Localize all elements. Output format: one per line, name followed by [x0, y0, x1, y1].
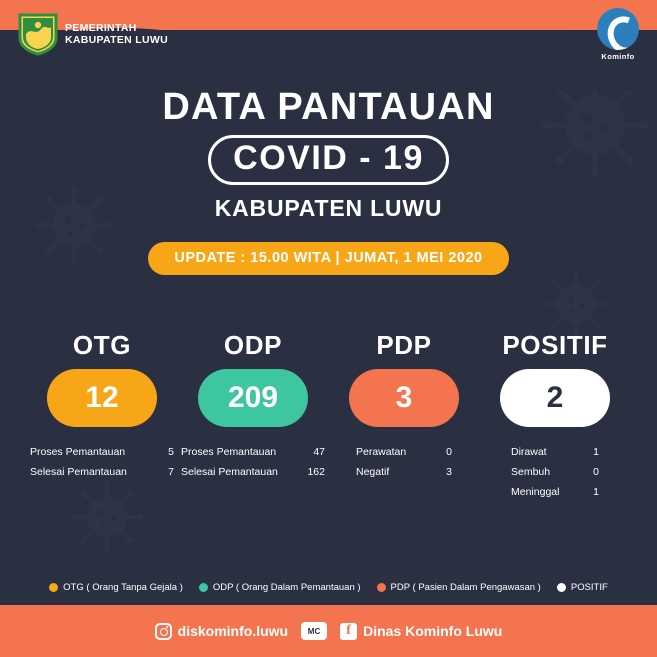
stat-value-pdp: 3: [349, 369, 459, 427]
legend-dot-icon: [49, 583, 58, 592]
breakdown-value: 162: [301, 463, 325, 483]
breakdown-label: Selesai Pemantauan: [181, 463, 278, 483]
breakdown-row: Proses Pemantauan 47: [181, 443, 325, 463]
breakdown-value: 5: [162, 443, 174, 463]
legend-label: OTG ( Orang Tanpa Gejala ): [63, 582, 183, 593]
stat-breakdown-otg: Proses Pemantauan 5 Selesai Pemantauan 7: [28, 443, 176, 483]
page-subtitle: KABUPATEN LUWU: [0, 195, 657, 222]
covid-title-badge: COVID - 19: [208, 135, 449, 185]
gov-line-2: KABUPATEN LUWU: [65, 34, 168, 46]
legend-dot-icon: [377, 583, 386, 592]
breakdown-value: 3: [440, 463, 452, 483]
page-title: DATA PANTAUAN: [0, 88, 657, 126]
stat-card-otg: OTG 12 Proses Pemantauan 5 Selesai Peman…: [28, 330, 176, 483]
stat-label-positif: POSITIF: [481, 330, 629, 361]
breakdown-value: 0: [440, 443, 452, 463]
legend-dot-icon: [557, 583, 566, 592]
legend-item-pdp: PDP ( Pasien Dalam Pengawasan ): [377, 582, 541, 593]
breakdown-label: Meninggal: [511, 483, 559, 503]
breakdown-label: Perawatan: [356, 443, 406, 463]
breakdown-value: 1: [587, 443, 599, 463]
facebook-page-group[interactable]: f Dinas Kominfo Luwu: [340, 623, 502, 640]
kominfo-label: Kominfo: [597, 52, 639, 61]
legend-item-odp: ODP ( Orang Dalam Pemantauan ): [199, 582, 361, 593]
legend-label: ODP ( Orang Dalam Pemantauan ): [213, 582, 361, 593]
government-logo: PEMERINTAH KABUPATEN LUWU: [18, 12, 168, 56]
facebook-name: Dinas Kominfo Luwu: [363, 623, 502, 639]
breakdown-row: Dirawat 1: [511, 443, 599, 463]
breakdown-label: Proses Pemantauan: [181, 443, 276, 463]
stat-breakdown-positif: Dirawat 1 Sembuh 0 Meninggal 1: [509, 443, 601, 503]
stat-label-odp: ODP: [179, 330, 327, 361]
stat-value-odp: 209: [198, 369, 308, 427]
legend-label: POSITIF: [571, 582, 608, 593]
stat-breakdown-pdp: Perawatan 0 Negatif 3: [354, 443, 454, 483]
legend-item-positif: POSITIF: [557, 582, 608, 593]
breakdown-label: Dirawat: [511, 443, 547, 463]
legend-item-otg: OTG ( Orang Tanpa Gejala ): [49, 582, 183, 593]
update-timestamp-badge: UPDATE : 15.00 WITA | JUMAT, 1 MEI 2020: [148, 242, 508, 275]
breakdown-value: 47: [307, 443, 325, 463]
government-name: PEMERINTAH KABUPATEN LUWU: [65, 22, 168, 46]
gov-line-1: PEMERINTAH: [65, 22, 168, 34]
stat-card-pdp: PDP 3 Perawatan 0 Negatif 3: [330, 330, 478, 483]
instagram-icon: [155, 623, 172, 640]
breakdown-value: 0: [587, 463, 599, 483]
stat-card-positif: POSITIF 2 Dirawat 1 Sembuh 0 Meninggal 1: [481, 330, 629, 503]
breakdown-label: Proses Pemantauan: [30, 443, 125, 463]
stat-value-positif: 2: [500, 369, 610, 427]
instagram-handle: diskominfo.luwu: [178, 623, 288, 639]
legend: OTG ( Orang Tanpa Gejala ) ODP ( Orang D…: [0, 582, 657, 593]
stat-label-pdp: PDP: [330, 330, 478, 361]
stat-breakdown-odp: Proses Pemantauan 47 Selesai Pemantauan …: [179, 443, 327, 483]
breakdown-row: Meninggal 1: [511, 483, 599, 503]
legend-label: PDP ( Pasien Dalam Pengawasan ): [391, 582, 541, 593]
breakdown-row: Selesai Pemantauan 7: [30, 463, 174, 483]
breakdown-label: Negatif: [356, 463, 389, 483]
legend-dot-icon: [199, 583, 208, 592]
shield-crest-icon: [18, 12, 58, 56]
stats-row: OTG 12 Proses Pemantauan 5 Selesai Peman…: [28, 330, 629, 503]
stat-label-otg: OTG: [28, 330, 176, 361]
breakdown-value: 7: [162, 463, 174, 483]
breakdown-row: Perawatan 0: [356, 443, 452, 463]
footer-social: diskominfo.luwu MC f Dinas Kominfo Luwu: [0, 605, 657, 657]
breakdown-label: Sembuh: [511, 463, 550, 483]
media-center-badge-icon: MC: [301, 622, 327, 640]
breakdown-value: 1: [587, 483, 599, 503]
kominfo-logo-icon: [597, 8, 639, 50]
title-block: DATA PANTAUAN COVID - 19 KABUPATEN LUWU …: [0, 88, 657, 275]
breakdown-label: Selesai Pemantauan: [30, 463, 127, 483]
facebook-icon: f: [340, 623, 357, 640]
breakdown-row: Negatif 3: [356, 463, 452, 483]
stat-card-odp: ODP 209 Proses Pemantauan 47 Selesai Pem…: [179, 330, 327, 483]
poster-canvas: PEMERINTAH KABUPATEN LUWU Kominfo DATA P…: [0, 0, 657, 657]
breakdown-row: Proses Pemantauan 5: [30, 443, 174, 463]
breakdown-row: Sembuh 0: [511, 463, 599, 483]
kominfo-logo: Kominfo: [597, 8, 639, 61]
instagram-handle-group[interactable]: diskominfo.luwu: [155, 623, 288, 640]
breakdown-row: Selesai Pemantauan 162: [181, 463, 325, 483]
stat-value-otg: 12: [47, 369, 157, 427]
